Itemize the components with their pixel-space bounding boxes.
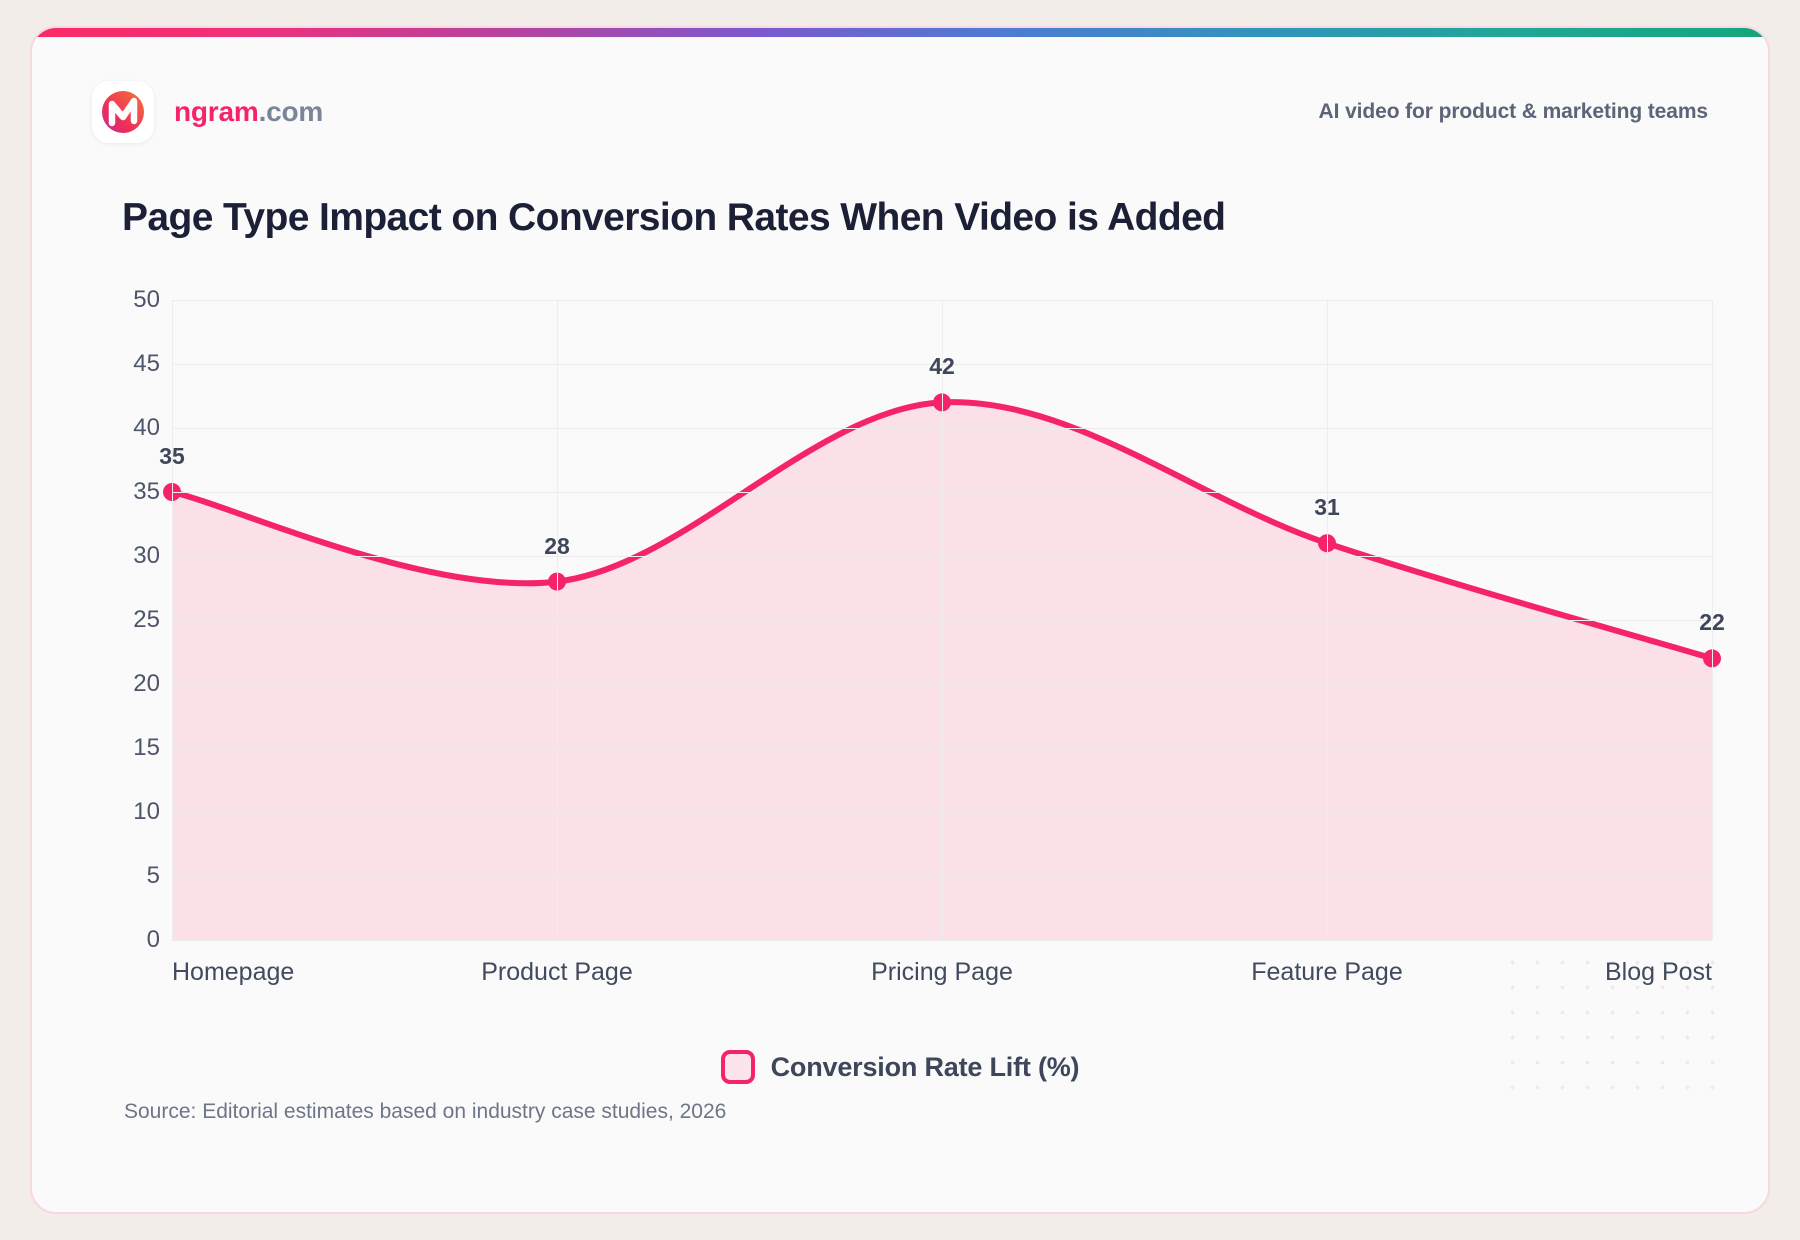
grid-line-vertical (942, 300, 943, 940)
x-axis-tick-labels: HomepageProduct PagePricing PageFeature … (172, 958, 1712, 998)
card-header: ngram.com AI video for product & marketi… (92, 80, 1708, 144)
grid-line-vertical (172, 300, 173, 940)
x-axis-tick-label: Pricing Page (871, 958, 1013, 987)
data-point-label: 35 (159, 443, 185, 470)
y-axis-tick-labels: 05101520253035404550 (92, 300, 160, 940)
y-axis-tick-label: 30 (133, 542, 160, 570)
y-axis-tick-label: 10 (133, 798, 160, 826)
legend-swatch-conversion-rate-lift (721, 1050, 755, 1084)
grid-line-vertical (1327, 300, 1328, 940)
data-point-label: 42 (929, 353, 955, 380)
data-point-label: 22 (1699, 609, 1725, 636)
y-axis-tick-label: 35 (133, 478, 160, 506)
y-axis-tick-label: 40 (133, 414, 160, 442)
y-axis-tick-label: 0 (147, 926, 160, 954)
y-axis-tick-label: 20 (133, 670, 160, 698)
accent-gradient-bar (32, 28, 1768, 37)
header-tagline: AI video for product & marketing teams (1319, 100, 1708, 124)
legend-label-conversion-rate-lift: Conversion Rate Lift (%) (771, 1052, 1080, 1083)
chart-card: ngram.com AI video for product & marketi… (30, 26, 1770, 1214)
grid-line-vertical (557, 300, 558, 940)
brand-name-secondary: .com (259, 96, 324, 127)
x-axis-tick-label: Blog Post (1605, 958, 1712, 987)
chart-legend: Conversion Rate Lift (%) (32, 1050, 1768, 1084)
page-title: Page Type Impact on Conversion Rates Whe… (122, 196, 1225, 240)
source-note: Source: Editorial estimates based on ind… (124, 1100, 726, 1124)
x-axis-tick-label: Feature Page (1251, 958, 1403, 987)
y-axis-tick-label: 50 (133, 286, 160, 314)
grid-line-horizontal (172, 940, 1712, 941)
brand: ngram.com (92, 81, 323, 143)
y-axis-tick-label: 5 (147, 862, 160, 890)
x-axis-tick-label: Homepage (172, 958, 294, 987)
y-axis-tick-label: 15 (133, 734, 160, 762)
data-point-label: 31 (1314, 494, 1340, 521)
axes-grid: 3528423122 (172, 300, 1712, 940)
chart-plot-area: 05101520253035404550 3528423122 Homepage… (92, 300, 1712, 1000)
brand-name: ngram.com (174, 96, 323, 128)
y-axis-tick-label: 25 (133, 606, 160, 634)
ngram-logo-icon (92, 81, 154, 143)
x-axis-tick-label: Product Page (481, 958, 633, 987)
data-point-label: 28 (544, 533, 570, 560)
brand-name-primary: ngram (174, 96, 259, 127)
y-axis-tick-label: 45 (133, 350, 160, 378)
